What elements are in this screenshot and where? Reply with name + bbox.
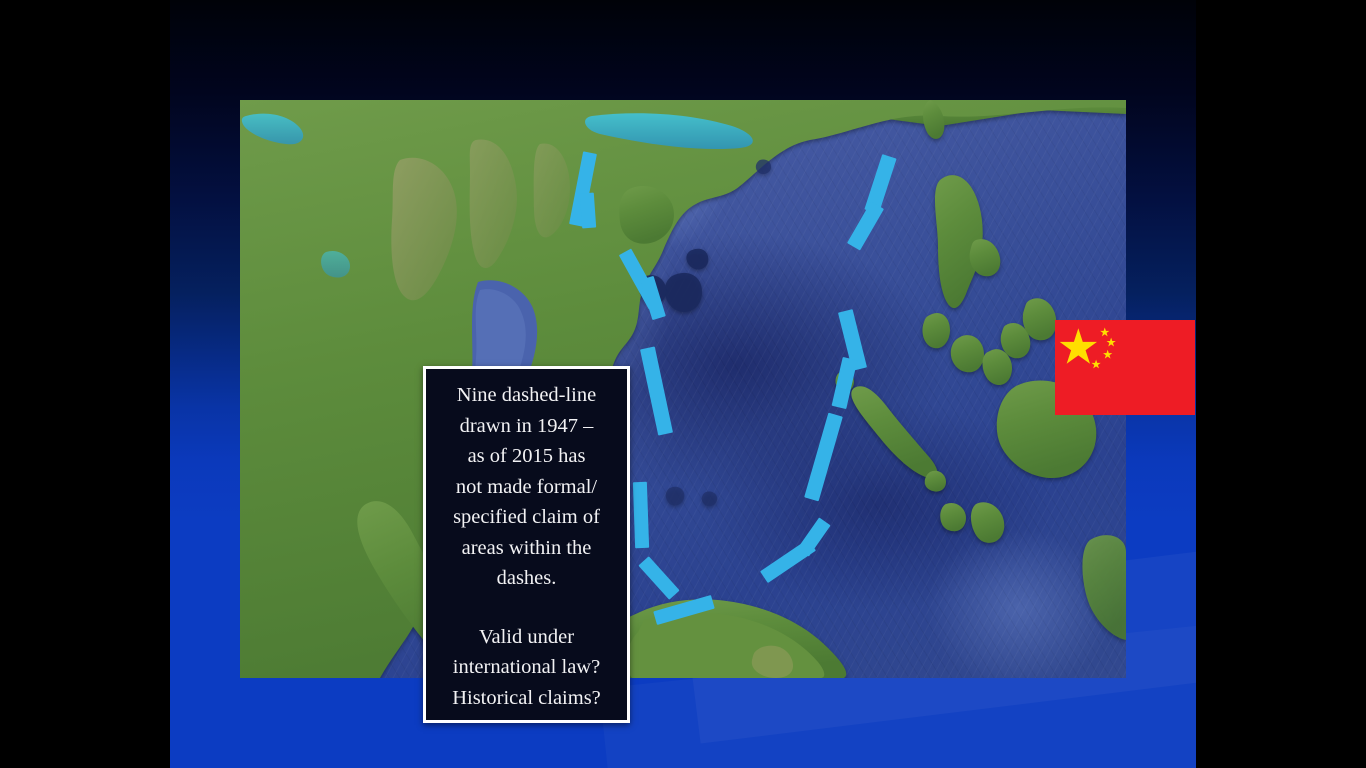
caption-line-1: Nine dashed-line: [432, 380, 621, 411]
presentation-slide: Nine dashed-line drawn in 1947 – as of 2…: [170, 0, 1196, 768]
dash-southwest: [633, 482, 649, 548]
map-landmasses: [240, 100, 1126, 678]
caption-line-2: drawn in 1947 –: [432, 411, 621, 442]
dash-gulf-of-tonkin-b: [580, 193, 596, 229]
slide-stage: Nine dashed-line drawn in 1947 – as of 2…: [0, 0, 1366, 768]
nine-dash-line-caption-box[interactable]: Nine dashed-line drawn in 1947 – as of 2…: [423, 366, 630, 723]
question-line-1: Valid under: [432, 622, 621, 653]
question-line-3: Historical claims?: [432, 683, 621, 714]
china-flag[interactable]: [1055, 320, 1195, 415]
caption-text-wrapper: Nine dashed-line drawn in 1947 – as of 2…: [426, 376, 627, 713]
caption-line-7: dashes.: [432, 563, 621, 594]
caption-blank-line: [432, 594, 621, 622]
question-line-2: international law?: [432, 652, 621, 683]
letterbox-left: [0, 0, 170, 768]
caption-line-4: not made formal/: [432, 472, 621, 503]
china-flag-graphic: [1055, 320, 1195, 415]
caption-line-5: specified claim of: [432, 502, 621, 533]
letterbox-right: [1196, 0, 1366, 768]
satellite-map[interactable]: [240, 100, 1126, 678]
caption-line-6: areas within the: [432, 533, 621, 564]
caption-line-3: as of 2015 has: [432, 441, 621, 472]
